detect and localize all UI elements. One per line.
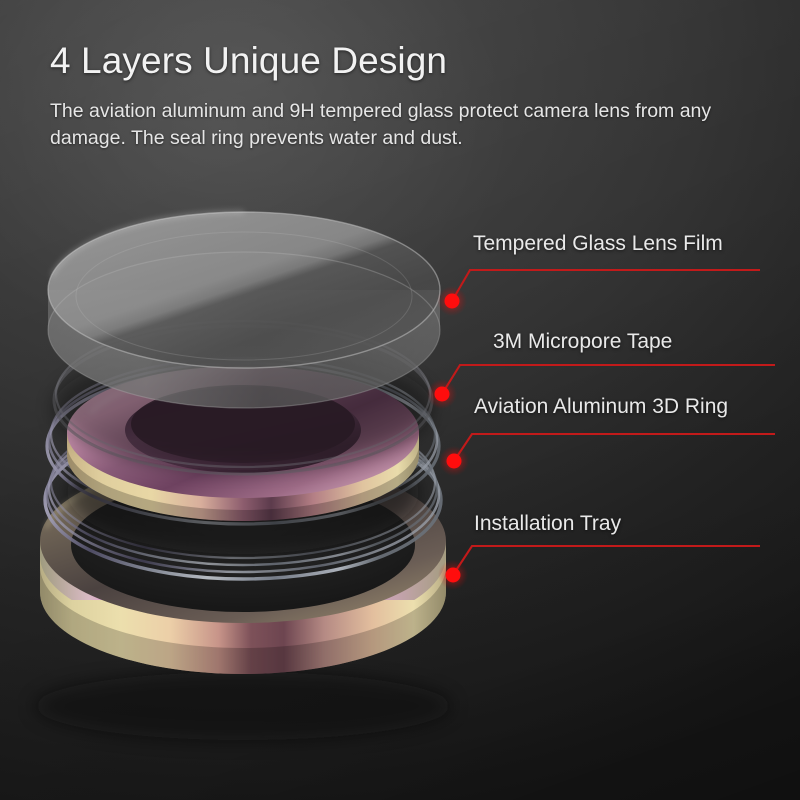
callout-line-tempered-glass-lens-film (437, 270, 760, 316)
callout-label-tempered-glass-lens-film: Tempered Glass Lens Film (473, 232, 723, 256)
callout-label-aviation-aluminum-3d-ring: Aviation Aluminum 3D Ring (474, 395, 728, 419)
callout-line-installation-tray (438, 546, 760, 590)
callout-label-installation-tray: Installation Tray (474, 512, 621, 536)
callout-label-3m-micropore-tape: 3M Micropore Tape (493, 330, 672, 354)
callout-line-aviation-aluminum-3d-ring (439, 434, 775, 476)
callout-dot (435, 387, 450, 402)
infographic-canvas: 4 Layers Unique Design The aviation alum… (0, 0, 800, 800)
callout-dot (446, 568, 461, 583)
callout-dot (445, 294, 460, 309)
callout-dot (447, 454, 462, 469)
